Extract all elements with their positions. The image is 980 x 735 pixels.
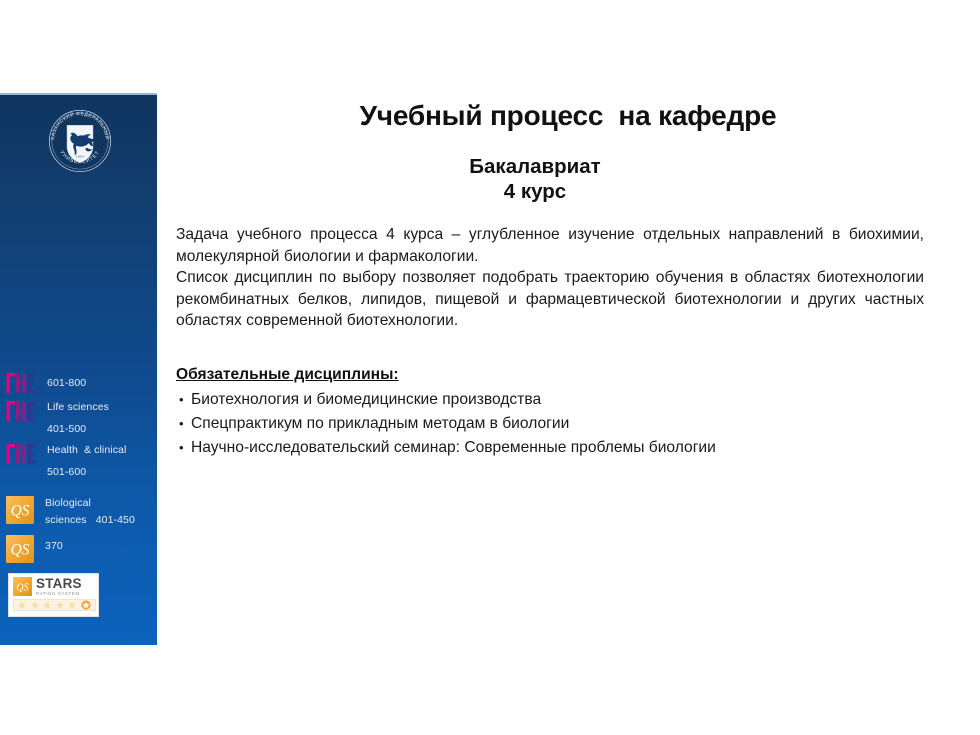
list-item-label: Спецпрактикум по прикладным методам в би… xyxy=(191,412,569,436)
ranking-value: 370 xyxy=(45,539,63,554)
qs-logo-icon: QS xyxy=(6,496,34,524)
subtitle-line-degree: Бакалавриат xyxy=(176,154,894,179)
bullet-icon: • xyxy=(176,388,191,412)
svg-text:1804: 1804 xyxy=(76,154,84,158)
star-icon xyxy=(31,601,39,609)
ranking-row-qs-overall: QS 370 xyxy=(6,535,63,563)
ranking-value-life-sciences-wrap: 401-500 xyxy=(47,422,86,437)
ranking-value: 601-800 xyxy=(47,376,86,391)
list-item: • Биотехнология и биомедицинские произво… xyxy=(176,388,956,412)
ranking-subject: Health & clinical xyxy=(47,443,126,458)
list-item-label: Научно-исследовательский семинар: Соврем… xyxy=(191,436,716,460)
ranking-value: sciences 401-450 xyxy=(45,513,135,528)
list-item: • Научно-исследовательский семинар: Совр… xyxy=(176,436,956,460)
qs-logo-icon: QS xyxy=(13,577,32,596)
qs-stars-badge: QS STARS RATING SYSTEM xyxy=(8,573,99,617)
svg-text:QS: QS xyxy=(11,503,30,520)
subtitle-line-year: 4 курс xyxy=(176,179,894,204)
qs-stars-header: QS STARS RATING SYSTEM xyxy=(13,577,94,596)
qs-logo-icon: QS xyxy=(6,535,34,563)
star-icon xyxy=(56,601,64,609)
qs-stars-subtitle: RATING SYSTEM xyxy=(36,592,82,597)
page-title: Учебный процесс на кафедре xyxy=(176,100,956,132)
list-heading: Обязательные дисциплины: xyxy=(176,366,399,384)
ranking-value-health-clinical-wrap: 501-600 xyxy=(47,465,86,480)
ranking-value: 501-600 xyxy=(47,465,86,480)
star-icon xyxy=(43,601,51,609)
star-icon xyxy=(68,601,76,609)
bullet-icon: • xyxy=(176,436,191,460)
paragraph: Список дисциплин по выбору позволяет под… xyxy=(176,267,924,332)
bullet-icon: • xyxy=(176,412,191,436)
ranking-subject: Life sciences xyxy=(47,400,109,415)
ranking-row-the-overall: 601-800 xyxy=(6,372,86,394)
kazan-federal-university-emblem-icon: КАЗАНСКИЙ ФЕДЕРАЛЬНЫЙ УНИВЕРСИТЕТ 1804 xyxy=(46,107,114,175)
svg-text:QS: QS xyxy=(11,542,30,559)
ranking-row-the-life-sciences: Life sciences xyxy=(6,400,109,422)
the-logo-icon xyxy=(6,443,36,465)
svg-text:QS: QS xyxy=(16,582,28,593)
required-disciplines-block: Обязательные дисциплины: • Биотехнология… xyxy=(176,366,956,460)
ranking-row-the-health-clinical: Health & clinical xyxy=(6,443,126,465)
slide-content: Учебный процесс на кафедре Бакалавриат 4… xyxy=(176,100,956,460)
the-logo-icon xyxy=(6,400,36,422)
ranking-value: 401-500 xyxy=(47,422,86,437)
paragraph: Задача учебного процесса 4 курса – углуб… xyxy=(176,224,924,267)
list-item: • Спецпрактикум по прикладным методам в … xyxy=(176,412,956,436)
list-item-label: Биотехнология и биомедицинские производс… xyxy=(191,388,541,412)
body-text: Задача учебного процесса 4 курса – углуб… xyxy=(176,224,924,332)
the-logo-icon xyxy=(6,372,36,394)
slide-subtitle: Бакалавриат 4 курс xyxy=(176,154,956,204)
sidebar-top-divider xyxy=(0,93,157,95)
ranking-subject: Biological xyxy=(45,496,91,511)
ranking-value-biological-sciences-wrap: sciences 401-450 xyxy=(45,513,135,528)
orange-star-badge-icon xyxy=(81,600,91,610)
star-icon xyxy=(18,601,26,609)
slide-canvas: КАЗАНСКИЙ ФЕДЕРАЛЬНЫЙ УНИВЕРСИТЕТ 1804 xyxy=(0,0,980,735)
qs-stars-wordmark: STARS RATING SYSTEM xyxy=(36,577,82,596)
qs-stars-rating-strip xyxy=(13,599,96,611)
qs-stars-title: STARS xyxy=(36,577,82,591)
